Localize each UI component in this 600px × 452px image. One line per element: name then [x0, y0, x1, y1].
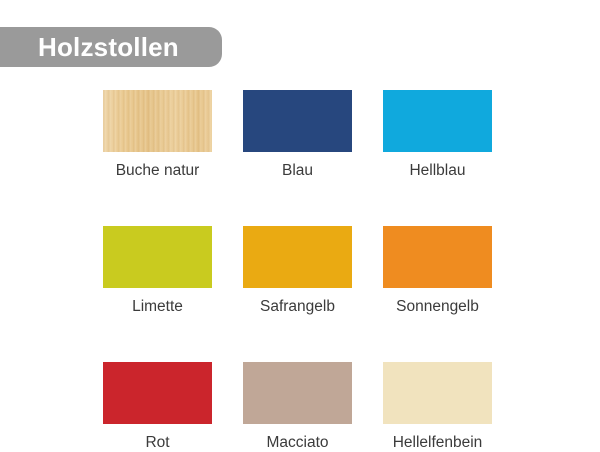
swatch-chip[interactable]: [243, 90, 352, 152]
page-title: Holzstollen: [38, 31, 179, 63]
swatch-chip[interactable]: [103, 362, 212, 424]
color-chart-page: Holzstollen Buche natur Blau Hellblau Li…: [0, 0, 600, 450]
swatch-label: Sonnengelb: [396, 297, 479, 316]
swatch-label: Hellblau: [409, 161, 465, 180]
swatch-row: Buche natur Blau Hellblau: [103, 90, 503, 180]
swatch-item-hellblau[interactable]: Hellblau: [383, 90, 492, 180]
swatch-label: Blau: [282, 161, 313, 180]
swatch-item-buche-natur[interactable]: Buche natur: [103, 90, 212, 180]
swatch-item-macciato[interactable]: Macciato: [243, 362, 352, 452]
swatch-row: Limette Safrangelb Sonnengelb: [103, 226, 503, 316]
swatch-chip[interactable]: [103, 90, 212, 152]
swatch-row: Rot Macciato Hellelfenbein: [103, 362, 503, 452]
swatch-chip[interactable]: [243, 362, 352, 424]
swatch-label: Hellelfenbein: [393, 433, 483, 452]
swatch-chip[interactable]: [103, 226, 212, 288]
swatch-label: Safrangelb: [260, 297, 335, 316]
swatch-chip[interactable]: [383, 226, 492, 288]
swatch-label: Buche natur: [116, 161, 200, 180]
swatch-label: Limette: [132, 297, 183, 316]
swatch-chip[interactable]: [383, 362, 492, 424]
swatch-item-limette[interactable]: Limette: [103, 226, 212, 316]
swatch-item-blau[interactable]: Blau: [243, 90, 352, 180]
swatch-item-sonnengelb[interactable]: Sonnengelb: [383, 226, 492, 316]
swatch-chip[interactable]: [383, 90, 492, 152]
swatch-item-hellelfenbein[interactable]: Hellelfenbein: [383, 362, 492, 452]
swatch-label: Macciato: [266, 433, 328, 452]
color-swatch-grid: Buche natur Blau Hellblau Limette Safran…: [103, 90, 503, 452]
swatch-label: Rot: [145, 433, 169, 452]
swatch-item-rot[interactable]: Rot: [103, 362, 212, 452]
swatch-item-safrangelb[interactable]: Safrangelb: [243, 226, 352, 316]
swatch-chip[interactable]: [243, 226, 352, 288]
